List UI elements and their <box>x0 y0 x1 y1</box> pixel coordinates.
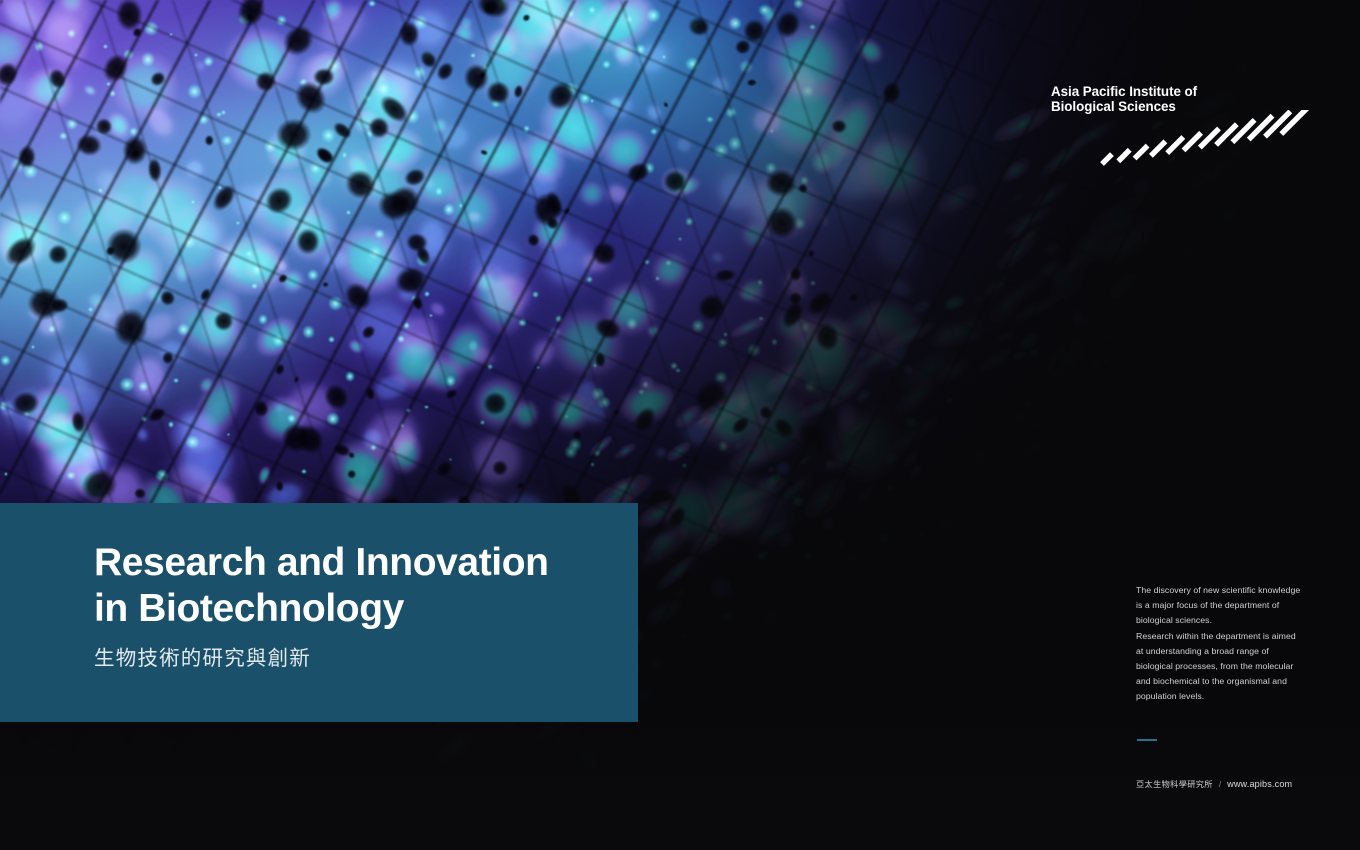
title-panel-content: Research and Innovation in Biotechnology… <box>94 540 614 672</box>
footer-website-link[interactable]: www.apibs.com <box>1227 779 1292 789</box>
poster-canvas: Asia Pacific Institute of Biological Sci… <box>0 0 1360 850</box>
diagonal-bars-logo-mark <box>1096 110 1311 168</box>
footer-separator: / <box>1219 780 1221 789</box>
description-text-block: The discovery of new scientific knowledg… <box>1136 583 1304 705</box>
footer-organization-chinese: 亞太生物科學研究所 <box>1136 778 1213 790</box>
page-title: Research and Innovation in Biotechnology <box>94 540 614 632</box>
description-paragraph-1: The discovery of new scientific knowledg… <box>1136 583 1304 629</box>
footer: 亞太生物科學研究所 / www.apibs.com <box>1136 778 1292 790</box>
institute-logo: Asia Pacific Institute of Biological Sci… <box>1051 84 1301 115</box>
title-panel: Research and Innovation in Biotechnology… <box>0 503 638 722</box>
page-subtitle-chinese: 生物技術的研究與創新 <box>94 646 614 672</box>
accent-divider-rule <box>1137 739 1157 741</box>
description-paragraph-2: Research within the department is aimed … <box>1136 629 1304 705</box>
